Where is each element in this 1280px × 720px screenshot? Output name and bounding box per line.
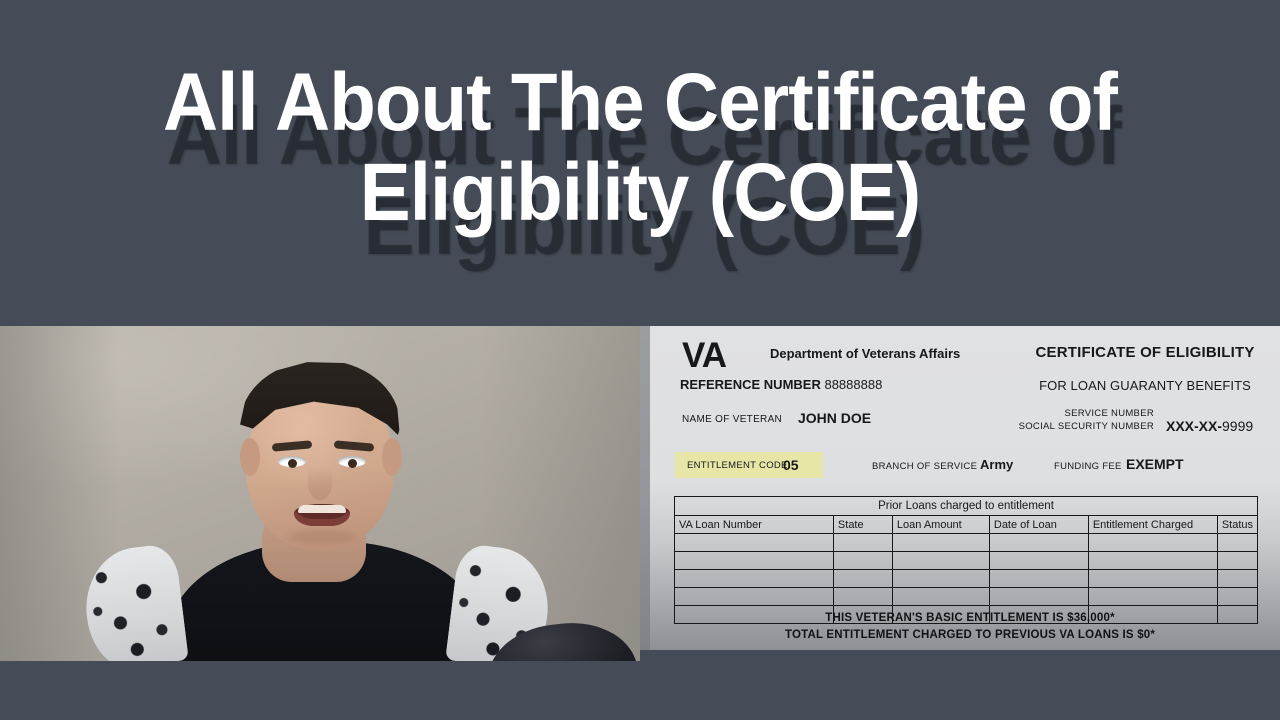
cell-state [833,570,892,588]
prior-loans-table: Prior Loans charged to entitlement VA Lo… [674,496,1258,624]
title-line-2: Eligibility (COE) [45,152,1235,234]
cell-entitlement-charged [1088,570,1217,588]
name-of-veteran-label: NAME OF VETERAN [682,414,782,425]
service-number-label: SERVICE NUMBER [976,408,1154,421]
column-header-va-loan-number: VA Loan Number [675,516,834,534]
ssn-value-last4: 9999 [1222,418,1253,434]
presenter-nose [308,466,332,500]
ssn-label: SOCIAL SECURITY NUMBER [976,421,1154,434]
cell-loan-amount [892,570,989,588]
charged-entitlement-line: TOTAL ENTITLEMENT CHARGED TO PREVIOUS VA… [660,627,1280,644]
va-logo: VA [682,336,726,376]
table-row [675,588,1258,606]
cell-entitlement-charged [1088,588,1217,606]
cell-loan-amount [892,588,989,606]
cell-va-loan-number [675,570,834,588]
branch-of-service-value: Army [980,457,1013,472]
cell-status [1217,534,1257,552]
cell-va-loan-number [675,534,834,552]
cell-status [1217,588,1257,606]
slide-canvas: All About The Certificate of Eligibility… [0,0,1280,720]
reference-number-label: REFERENCE NUMBER [680,377,821,392]
column-header-loan-amount: Loan Amount [892,516,989,534]
certificate-title: CERTIFICATE OF ELIGIBILITY [1020,344,1270,361]
cell-state [833,552,892,570]
title-line-1: All About The Certificate of [45,62,1235,144]
service-ssn-labels: SERVICE NUMBER SOCIAL SECURITY NUMBER [976,408,1154,434]
column-header-state: State [833,516,892,534]
prior-loans-table-body: Prior Loans charged to entitlement VA Lo… [675,497,1258,624]
document-left-edge [640,326,650,650]
cell-date-of-loan [989,588,1088,606]
table-header-row: VA Loan Number State Loan Amount Date of… [675,516,1258,534]
cell-status [1217,570,1257,588]
presenter-chin-shadow [288,530,356,544]
column-header-date-of-loan: Date of Loan [989,516,1088,534]
entitlement-code-label: ENTITLEMENT CODE [687,460,788,471]
name-of-veteran-value: JOHN DOE [798,410,871,426]
basic-entitlement-line: THIS VETERAN'S BASIC ENTITLEMENT IS $36,… [660,610,1280,627]
cell-loan-amount [892,552,989,570]
coe-document-pane: VA Department of Veterans Affairs CERTIF… [640,326,1280,650]
cell-status [1217,552,1257,570]
table-caption: Prior Loans charged to entitlement [675,497,1258,516]
table-row [675,570,1258,588]
coe-document: VA Department of Veterans Affairs CERTIF… [650,326,1280,650]
column-header-status: Status [1217,516,1257,534]
funding-fee-value: EXEMPT [1126,456,1184,472]
table-row [675,534,1258,552]
ssn-value-masked: XXX-XX- [1166,418,1222,434]
entitlement-summary: THIS VETERAN'S BASIC ENTITLEMENT IS $36,… [660,610,1280,643]
table-caption-row: Prior Loans charged to entitlement [675,497,1258,516]
presenter-figure [0,326,640,661]
certificate-subtitle: FOR LOAN GUARANTY BENEFITS [1020,378,1270,393]
cell-va-loan-number [675,588,834,606]
cell-date-of-loan [989,570,1088,588]
agency-name: Department of Veterans Affairs [770,346,960,361]
camo-shoulder-left [79,543,189,661]
cell-state [833,588,892,606]
reference-number-value: 88888888 [824,377,882,392]
cell-date-of-loan [989,552,1088,570]
presenter-ear-left [240,438,260,476]
cell-entitlement-charged [1088,552,1217,570]
presenter-pupil-left [288,459,297,468]
cell-state [833,534,892,552]
presenter-pupil-right [348,459,357,468]
cell-loan-amount [892,534,989,552]
table-row [675,552,1258,570]
reference-number-line: REFERENCE NUMBER 88888888 [680,377,882,392]
presenter-ear-right [382,438,402,476]
entitlement-code-value: 05 [783,457,799,473]
branch-of-service-label: BRANCH OF SERVICE [872,461,977,472]
presenter-teeth [298,505,346,513]
cell-entitlement-charged [1088,534,1217,552]
video-pane [0,326,640,661]
ssn-value: XXX-XX-9999 [1166,418,1253,434]
cell-date-of-loan [989,534,1088,552]
slide-title: All About The Certificate of Eligibility… [0,62,1280,234]
column-header-entitlement-charged: Entitlement Charged [1088,516,1217,534]
entitlement-code-highlight: ENTITLEMENT CODE 05 [675,452,823,478]
cell-va-loan-number [675,552,834,570]
funding-fee-label: FUNDING FEE [1054,461,1122,472]
